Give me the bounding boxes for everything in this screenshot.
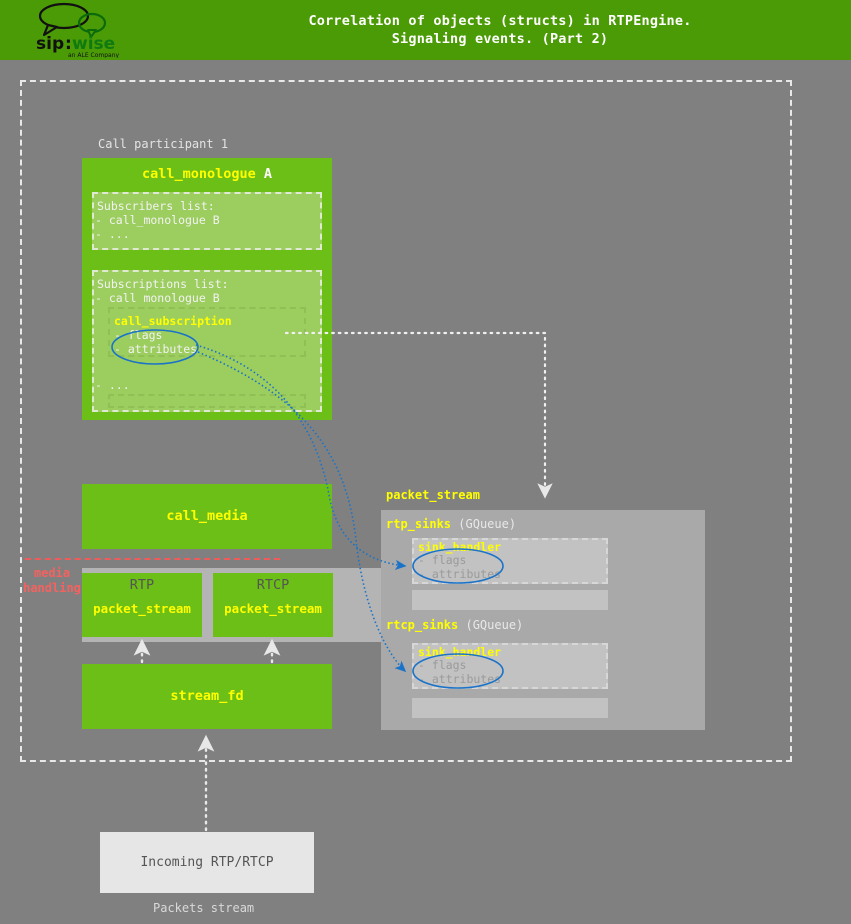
stream-fd-key: stream_fd [82, 688, 332, 704]
call-media-title: call_media [82, 508, 332, 524]
rtp-packet-stream-box[interactable]: RTP packet_stream [82, 573, 202, 637]
rtp-sink-handler-field-1: - attributes [418, 567, 501, 582]
rtcp-sinks-type: (GQueue) [465, 618, 523, 632]
rtcp-sinks-label: rtcp_sinks (GQueue) [386, 618, 523, 632]
subscriptions-heading: Subscriptions list: [97, 277, 229, 292]
incoming-rtp-rtcp-box: Incoming RTP/RTCP [100, 832, 314, 893]
rtp-packet-stream-key: packet_stream [82, 601, 202, 616]
svg-text::: : [65, 34, 72, 54]
rtcp-sink-handler-placeholder [412, 698, 608, 718]
incoming-rtp-rtcp-label: Incoming RTP/RTCP [140, 855, 273, 870]
rtp-sinks-label: rtp_sinks (GQueue) [386, 517, 516, 531]
subscribers-item-0: - call_monologue B [95, 213, 220, 228]
svg-text:wise: wise [72, 34, 115, 54]
rtp-sink-handler-field-0: - flags [418, 553, 466, 568]
title-line-1: Correlation of objects (structs) in RTPE… [308, 12, 691, 30]
call-monologue-suffix: A [264, 166, 272, 182]
call-subscription-key: call_subscription [114, 314, 232, 329]
call-monologue-title: call_monologue A [82, 166, 332, 182]
call-media-box[interactable]: call_media [82, 484, 332, 549]
subscribers-item-1: - ... [95, 227, 130, 242]
subscriptions-item-0: - call monologue B [95, 291, 220, 306]
media-handling-divider [25, 558, 280, 560]
stream-fd-box[interactable]: stream_fd [82, 664, 332, 729]
rtcp-packet-stream-box[interactable]: RTCP packet_stream [213, 573, 333, 637]
sipwise-logo: sip : wise an ALE Company [30, 2, 130, 58]
rtcp-sink-handler-field-0: - flags [418, 658, 466, 673]
packets-stream-caption: Packets stream [153, 901, 254, 915]
media-handling-label-line2: handling [22, 581, 82, 596]
media-handling-label: media handling [22, 566, 82, 596]
rtcp-sinks-name: rtcp_sinks [386, 618, 458, 632]
call-monologue-key: call_monologue [142, 166, 256, 182]
rtp-sinks-type: (GQueue) [458, 517, 516, 531]
rtcp-proto-label: RTCP [213, 577, 333, 593]
packet-stream-caption: packet_stream [386, 488, 480, 502]
call-participant-caption: Call participant 1 [98, 137, 228, 151]
svg-text:sip: sip [36, 34, 64, 54]
rtp-sinks-name: rtp_sinks [386, 517, 451, 531]
rtp-proto-label: RTP [82, 577, 202, 593]
subscribers-heading: Subscribers list: [97, 199, 215, 214]
call-subscription-field-1: - attributes [114, 342, 197, 357]
page-header: sip : wise an ALE Company Correlation of… [0, 0, 851, 60]
call-subscription-field-0: - flags [114, 328, 162, 343]
call-media-key: call_media [166, 508, 247, 524]
rtcp-sink-handler-field-1: - attributes [418, 672, 501, 687]
title-line-2: Signaling events. (Part 2) [392, 30, 609, 48]
subscriptions-item-1: - ... [95, 378, 130, 393]
call-subscription-panel-placeholder [108, 394, 306, 408]
rtcp-packet-stream-key: packet_stream [213, 601, 333, 616]
rtp-sink-handler-placeholder [412, 590, 608, 610]
page-title: Correlation of objects (structs) in RTPE… [160, 0, 840, 60]
media-handling-label-line1: media [22, 566, 82, 581]
svg-text:an ALE Company: an ALE Company [68, 52, 120, 58]
